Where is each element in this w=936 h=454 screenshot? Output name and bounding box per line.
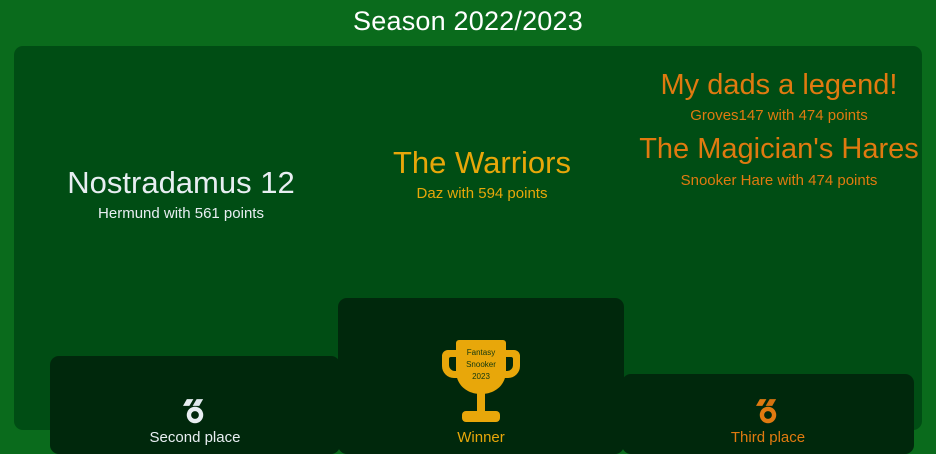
third-place-subtitle: Groves147 with 474 points — [636, 107, 922, 124]
podium-card: Nostradamus 12 Hermund with 561 points T… — [14, 46, 922, 430]
page-title: Season 2022/2023 — [0, 6, 936, 37]
third-place-team-name: My dads a legend! — [636, 70, 922, 101]
third-place-subtitle: Snooker Hare with 474 points — [636, 172, 922, 189]
first-place-label: Winner — [338, 429, 624, 446]
svg-text:Fantasy: Fantasy — [467, 348, 495, 357]
leaderboard-page: Season 2022/2023 Nostradamus 12 Hermund … — [0, 0, 936, 444]
svg-text:Snooker: Snooker — [466, 360, 496, 369]
second-place-details: Nostradamus 12 Hermund with 561 points — [36, 166, 326, 222]
second-place-team-name: Nostradamus 12 — [36, 166, 326, 199]
third-place-label: Third place — [622, 429, 914, 446]
first-place-team-name: The Warriors — [338, 146, 626, 179]
first-place-subtitle: Daz with 594 points — [338, 185, 626, 202]
podium-block-second-content: Second place — [50, 396, 340, 446]
third-place-entry: My dads a legend! Groves147 with 474 poi… — [636, 70, 922, 124]
third-place-details: My dads a legend! Groves147 with 474 poi… — [636, 70, 922, 189]
silver-medal-icon — [50, 396, 340, 426]
podium-block-first-content: Fantasy Snooker 2023 Winner — [338, 340, 624, 446]
second-place-subtitle: Hermund with 561 points — [36, 205, 326, 222]
svg-text:2023: 2023 — [472, 372, 490, 381]
bronze-medal-icon — [622, 396, 914, 426]
podium-block-second: Second place — [50, 356, 340, 454]
third-place-entry: The Magician's Hares Snooker Hare with 4… — [636, 134, 922, 188]
third-place-team-name: The Magician's Hares — [636, 134, 922, 165]
first-place-details: The Warriors Daz with 594 points — [338, 146, 626, 202]
second-place-label: Second place — [50, 429, 340, 446]
podium-block-third: Third place — [622, 374, 914, 454]
trophy-icon: Fantasy Snooker 2023 — [338, 340, 624, 426]
podium-block-first: Fantasy Snooker 2023 Winner — [338, 298, 624, 454]
podium-block-third-content: Third place — [622, 396, 914, 446]
